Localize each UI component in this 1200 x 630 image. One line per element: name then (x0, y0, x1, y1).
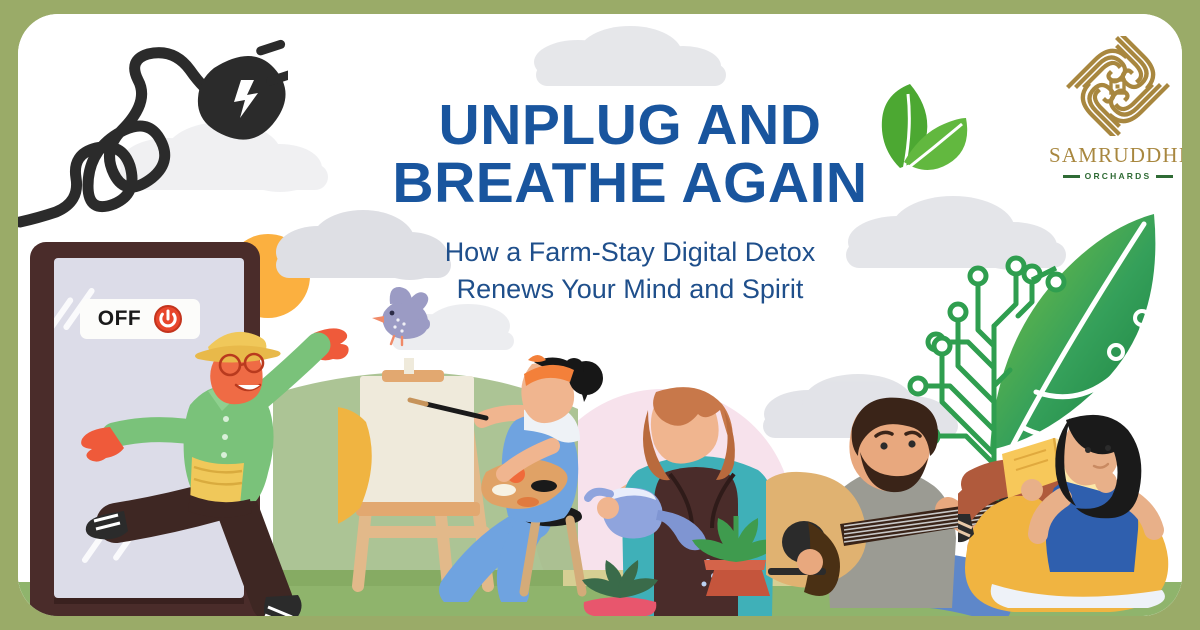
logo-tagline-row: ORCHARDS (1038, 171, 1182, 181)
plug-head (198, 39, 288, 140)
banner-card: OFF (18, 14, 1182, 616)
man-leaping-out-of-phone (66, 309, 366, 616)
headline-block: UNPLUG AND BREATHE AGAIN How a Farm-Stay… (370, 96, 890, 307)
logo-dash-right (1156, 175, 1173, 178)
subtitle-line-2: Renews Your Mind and Spirit (457, 274, 804, 304)
promo-banner: OFF (0, 0, 1200, 630)
logo-tagline: ORCHARDS (1085, 171, 1152, 181)
page-title: UNPLUG AND BREATHE AGAIN (370, 96, 890, 212)
woman-reading-on-beanbag (958, 414, 1182, 616)
page-subtitle: How a Farm-Stay Digital Detox Renews You… (370, 234, 890, 307)
title-line-1: UNPLUG AND (439, 93, 822, 157)
unplugged-power-plug-icon (18, 26, 288, 241)
brand-logo[interactable]: SAMRUDDHI ORCHARDS (1038, 36, 1182, 181)
logo-brand-name: SAMRUDDHI (1038, 143, 1182, 168)
subtitle-line-1: How a Farm-Stay Digital Detox (445, 237, 816, 267)
logo-dash-left (1063, 175, 1080, 178)
title-line-2: BREATHE AGAIN (392, 151, 867, 215)
front-leg (236, 505, 272, 601)
logo-emblem-icon (1065, 36, 1171, 136)
shoe (264, 595, 302, 616)
shoe (86, 511, 128, 539)
